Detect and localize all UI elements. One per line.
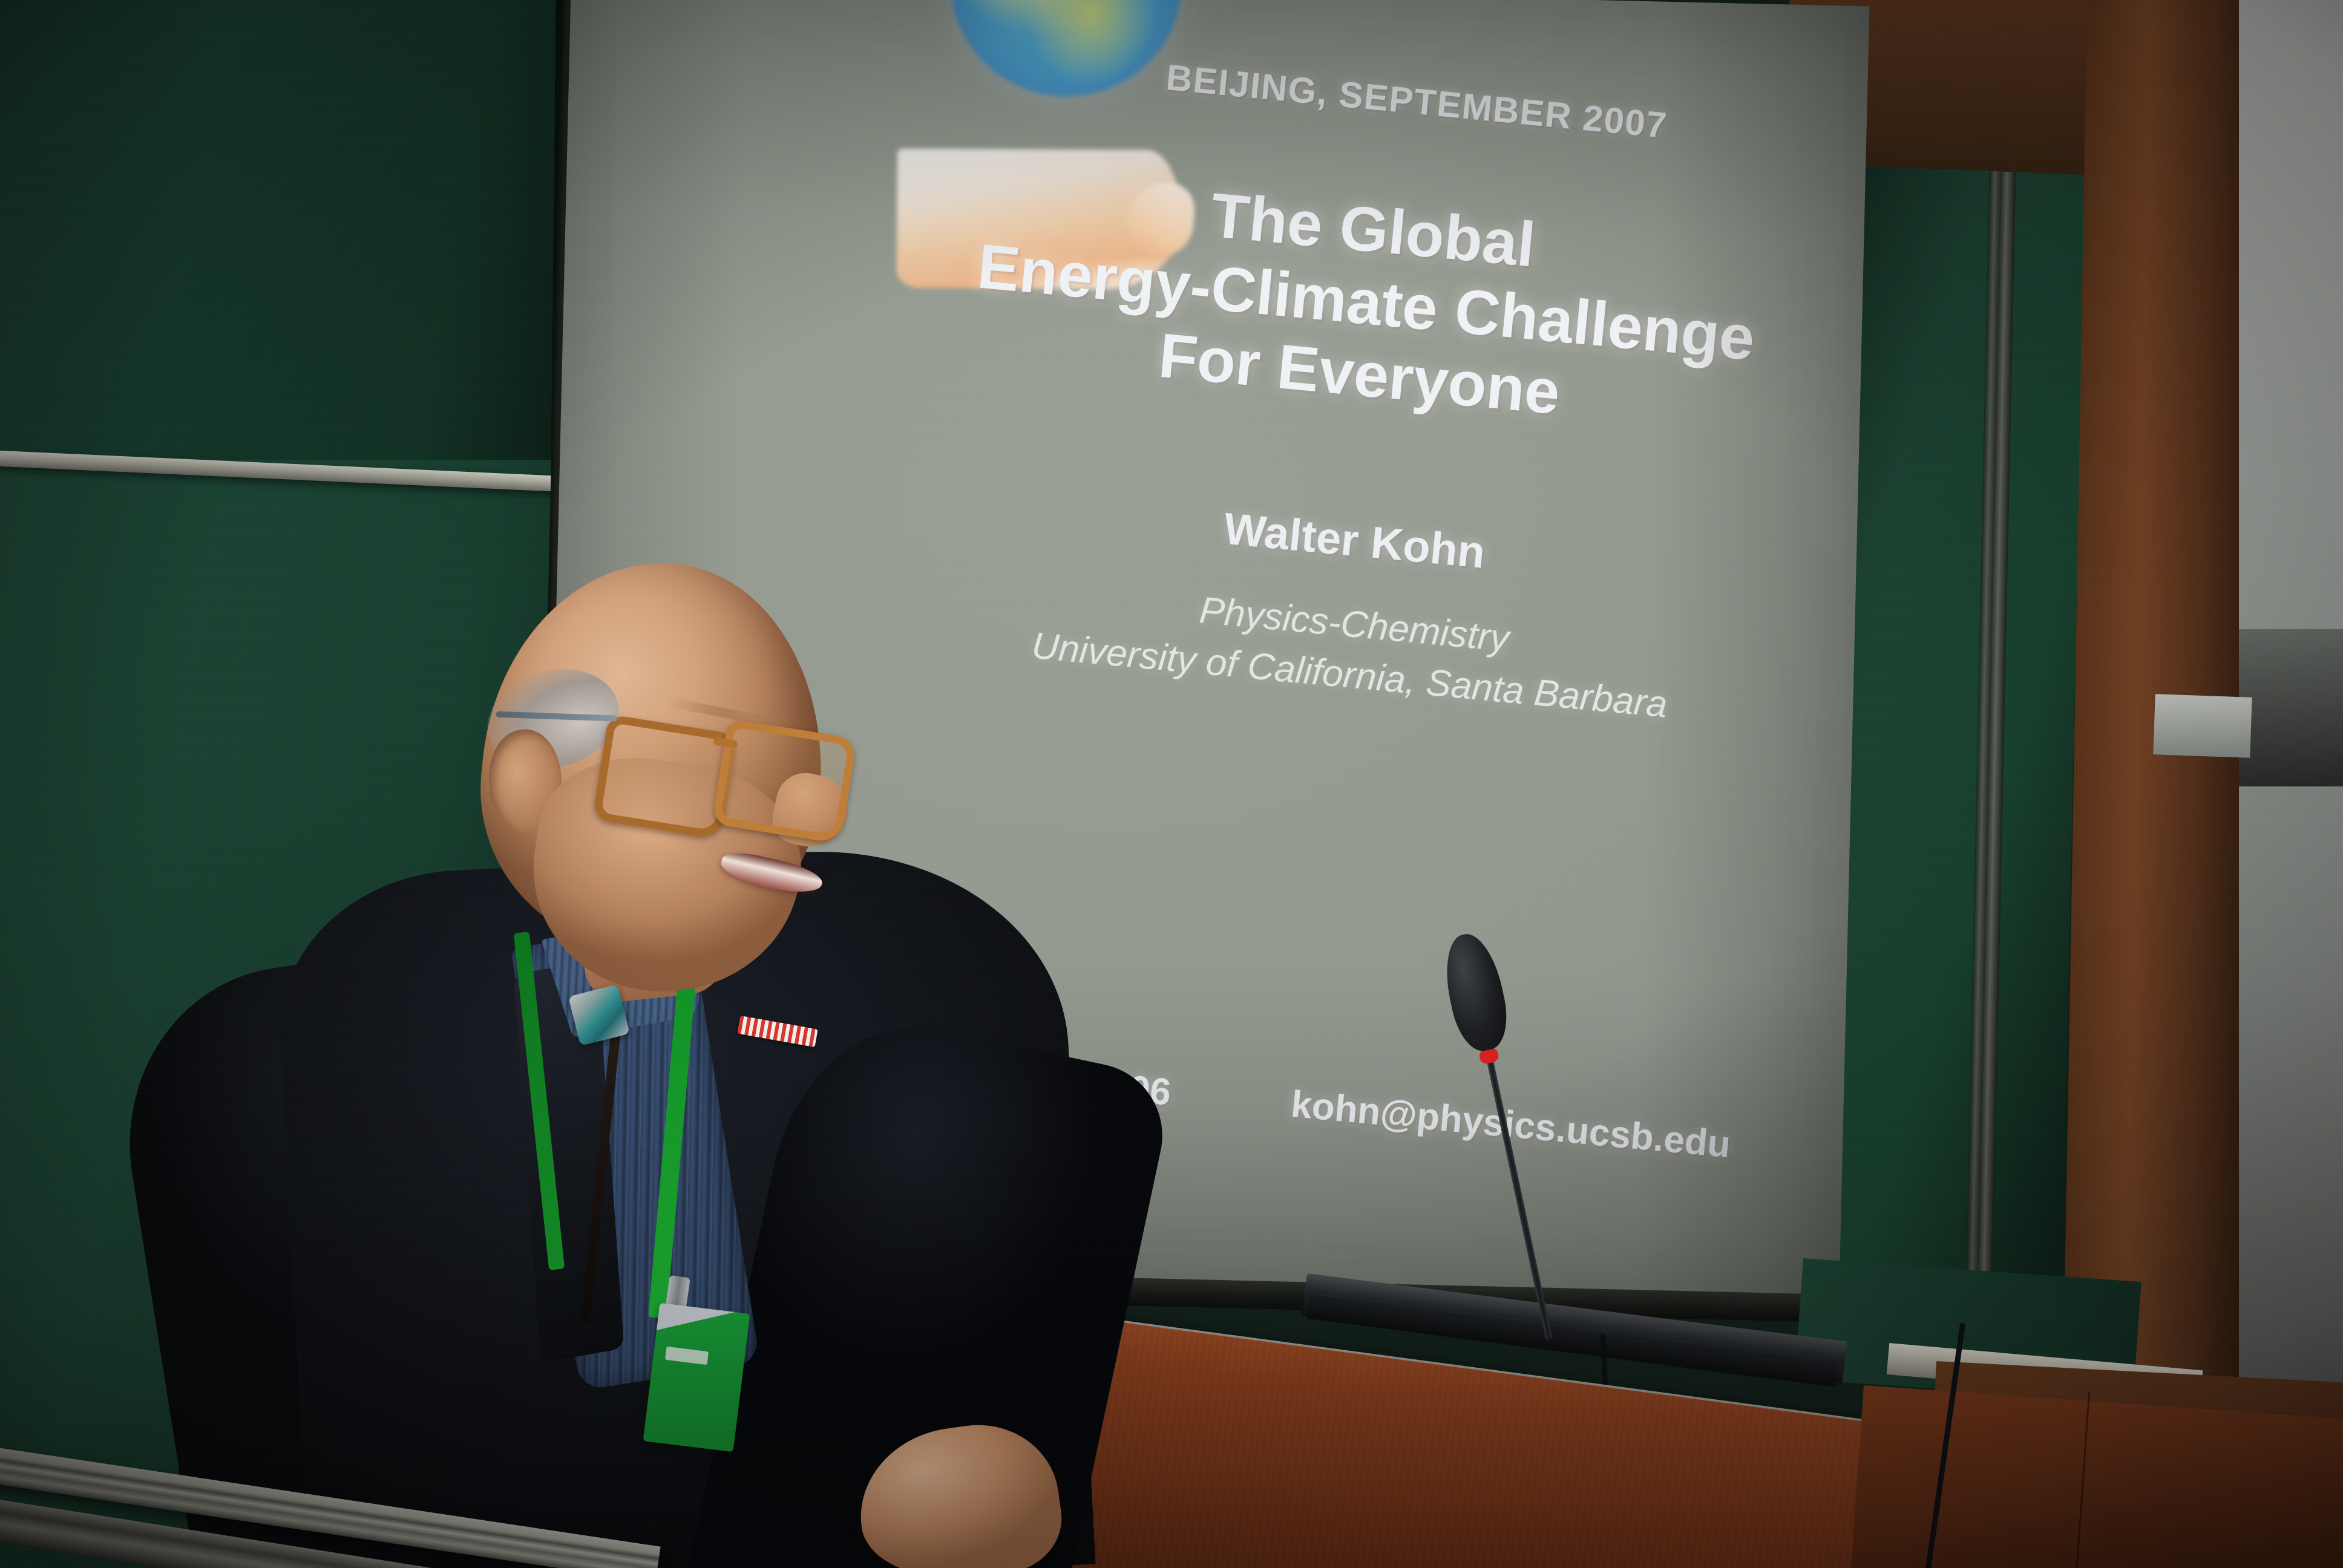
right-wall-light-strip [2153,694,2252,758]
earth-globe-icon [943,0,1189,105]
lecture-photo-scene: BEIJING, SEPTEMBER 2007 The Global Energ… [0,0,2343,1568]
speaker-figure [242,544,1150,1568]
slide-date-line: BEIJING, SEPTEMBER 2007 [1164,56,1669,146]
slide-title: The Global Energy-Climate Challenge For … [916,154,1816,452]
chalkboard-upper-left [0,0,617,484]
conference-badge [643,1303,750,1452]
far-right-wall-shadow [2239,629,2343,786]
eyeglasses-left-lens [592,714,738,840]
eyeglasses-right-lens [712,719,857,844]
